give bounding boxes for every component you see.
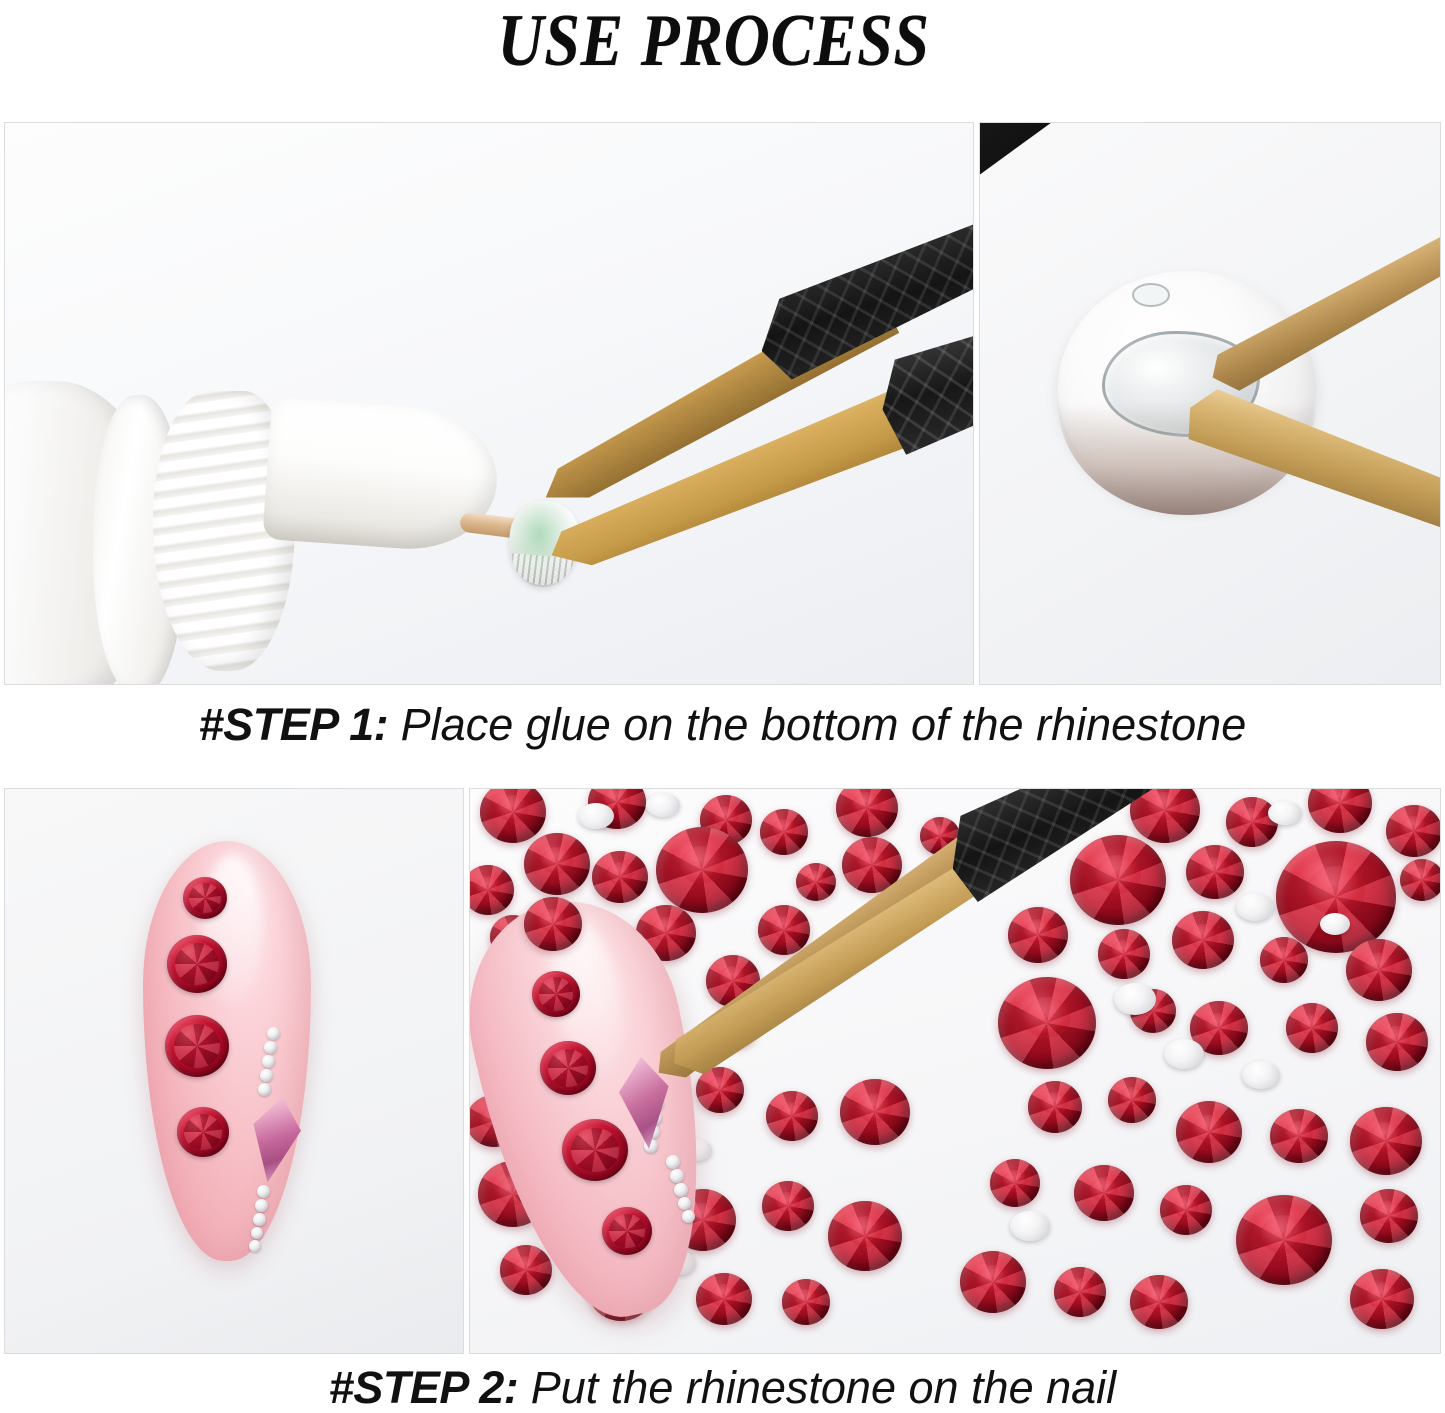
- red-rhinestone: [167, 935, 227, 993]
- rhinestone-silver-back: [646, 793, 680, 817]
- step-2-text: Put the rhinestone on the nail: [518, 1362, 1116, 1413]
- red-rhinestone: [1260, 937, 1308, 983]
- red-rhinestone: [1108, 1077, 1156, 1123]
- rhinestone-silver-back: [1320, 913, 1350, 935]
- red-rhinestone: [1074, 1165, 1134, 1221]
- glue-bottle-panel: [4, 122, 974, 685]
- red-rhinestone-on-nail: [532, 971, 580, 1017]
- red-rhinestone: [1346, 939, 1412, 1001]
- silver-bead: [253, 1213, 266, 1226]
- red-rhinestone: [1130, 1275, 1188, 1329]
- step-2-image-row: [4, 788, 1441, 1354]
- red-rhinestone: [1400, 859, 1441, 901]
- red-rhinestone: [1160, 1185, 1212, 1235]
- red-rhinestone: [524, 833, 590, 895]
- red-rhinestone-in-tweezers: [524, 897, 582, 951]
- red-rhinestone: [1028, 1081, 1082, 1133]
- rhinestone-silver-back: [1164, 1039, 1204, 1069]
- page-header: USE PROCESS: [0, 0, 1445, 112]
- red-rhinestone: [696, 1273, 752, 1325]
- silver-bead: [670, 1169, 684, 1183]
- red-rhinestone: [1226, 797, 1278, 847]
- red-rhinestone: [1070, 835, 1166, 925]
- red-rhinestone: [1350, 1269, 1414, 1329]
- red-rhinestone: [998, 977, 1096, 1069]
- red-rhinestone: [760, 809, 808, 855]
- red-rhinestone: [1054, 1267, 1106, 1317]
- rhinestone-closeup-panel: [979, 122, 1441, 685]
- red-rhinestone: [990, 1159, 1040, 1207]
- red-rhinestone: [766, 1091, 818, 1141]
- silver-bead: [260, 1069, 273, 1082]
- silver-bead: [262, 1055, 275, 1068]
- rhinestone-silver-back: [1010, 1211, 1050, 1241]
- red-rhinestone: [1276, 841, 1396, 953]
- red-rhinestone: [1236, 1195, 1332, 1285]
- red-rhinestone-on-nail: [562, 1119, 628, 1181]
- red-rhinestone: [1176, 1101, 1242, 1163]
- rhinestone-silver-back: [1242, 1061, 1280, 1089]
- silver-bead: [257, 1185, 270, 1198]
- red-rhinestone: [1172, 911, 1234, 969]
- step-1-caption: #STEP 1: Place glue on the bottom of the…: [0, 700, 1445, 750]
- red-rhinestone: [782, 1279, 830, 1325]
- step-2-tag: #STEP 2:: [329, 1362, 518, 1413]
- red-rhinestone-on-nail: [602, 1207, 652, 1255]
- page-title: USE PROCESS: [498, 0, 930, 80]
- red-rhinestone: [183, 877, 227, 919]
- red-rhinestone: [1366, 1013, 1428, 1071]
- silver-bead: [682, 1210, 695, 1223]
- silver-bead: [251, 1227, 263, 1239]
- red-rhinestone: [177, 1107, 229, 1157]
- red-rhinestone-on-nail: [540, 1041, 596, 1095]
- red-rhinestone: [592, 851, 648, 903]
- silver-bead: [674, 1183, 688, 1197]
- red-rhinestone: [500, 1245, 552, 1295]
- finished-nail-panel: [4, 788, 464, 1354]
- rhinestone-silver-back: [1268, 801, 1302, 825]
- red-rhinestone: [1008, 907, 1068, 963]
- red-rhinestone: [1386, 805, 1441, 857]
- step-1-tag: #STEP 1:: [199, 699, 388, 750]
- silver-bead: [267, 1027, 280, 1040]
- red-rhinestone: [796, 863, 836, 901]
- rhinestone-silver-back: [578, 803, 614, 829]
- red-rhinestone: [758, 905, 810, 955]
- step-1-text: Place glue on the bottom of the rhinesto…: [388, 699, 1246, 750]
- red-rhinestone: [1360, 1189, 1418, 1243]
- red-rhinestone: [762, 1181, 814, 1231]
- red-rhinestone: [960, 1251, 1026, 1313]
- red-rhinestone: [1098, 929, 1150, 979]
- rhinestone-placement-panel: [469, 788, 1441, 1354]
- rhinestone-silver-back: [1236, 893, 1274, 921]
- rhinestone-silver-back: [1114, 983, 1156, 1015]
- silver-bead: [678, 1197, 691, 1210]
- step-2-caption: #STEP 2: Put the rhinestone on the nail: [0, 1363, 1445, 1413]
- silver-bead: [258, 1083, 271, 1096]
- silver-bead: [666, 1155, 680, 1169]
- red-rhinestone: [1186, 845, 1244, 899]
- red-rhinestone: [840, 1079, 910, 1145]
- red-rhinestone: [1270, 1109, 1328, 1163]
- red-rhinestone: [656, 827, 748, 913]
- red-rhinestone: [1286, 1003, 1338, 1053]
- red-rhinestone: [828, 1201, 902, 1271]
- silver-bead: [264, 1041, 277, 1054]
- red-rhinestone: [165, 1015, 229, 1077]
- red-rhinestone: [1350, 1107, 1422, 1175]
- silver-bead: [255, 1199, 268, 1212]
- step-1-image-row: [4, 122, 1441, 685]
- glue-droplet: [1132, 283, 1170, 307]
- silver-bead: [249, 1240, 261, 1252]
